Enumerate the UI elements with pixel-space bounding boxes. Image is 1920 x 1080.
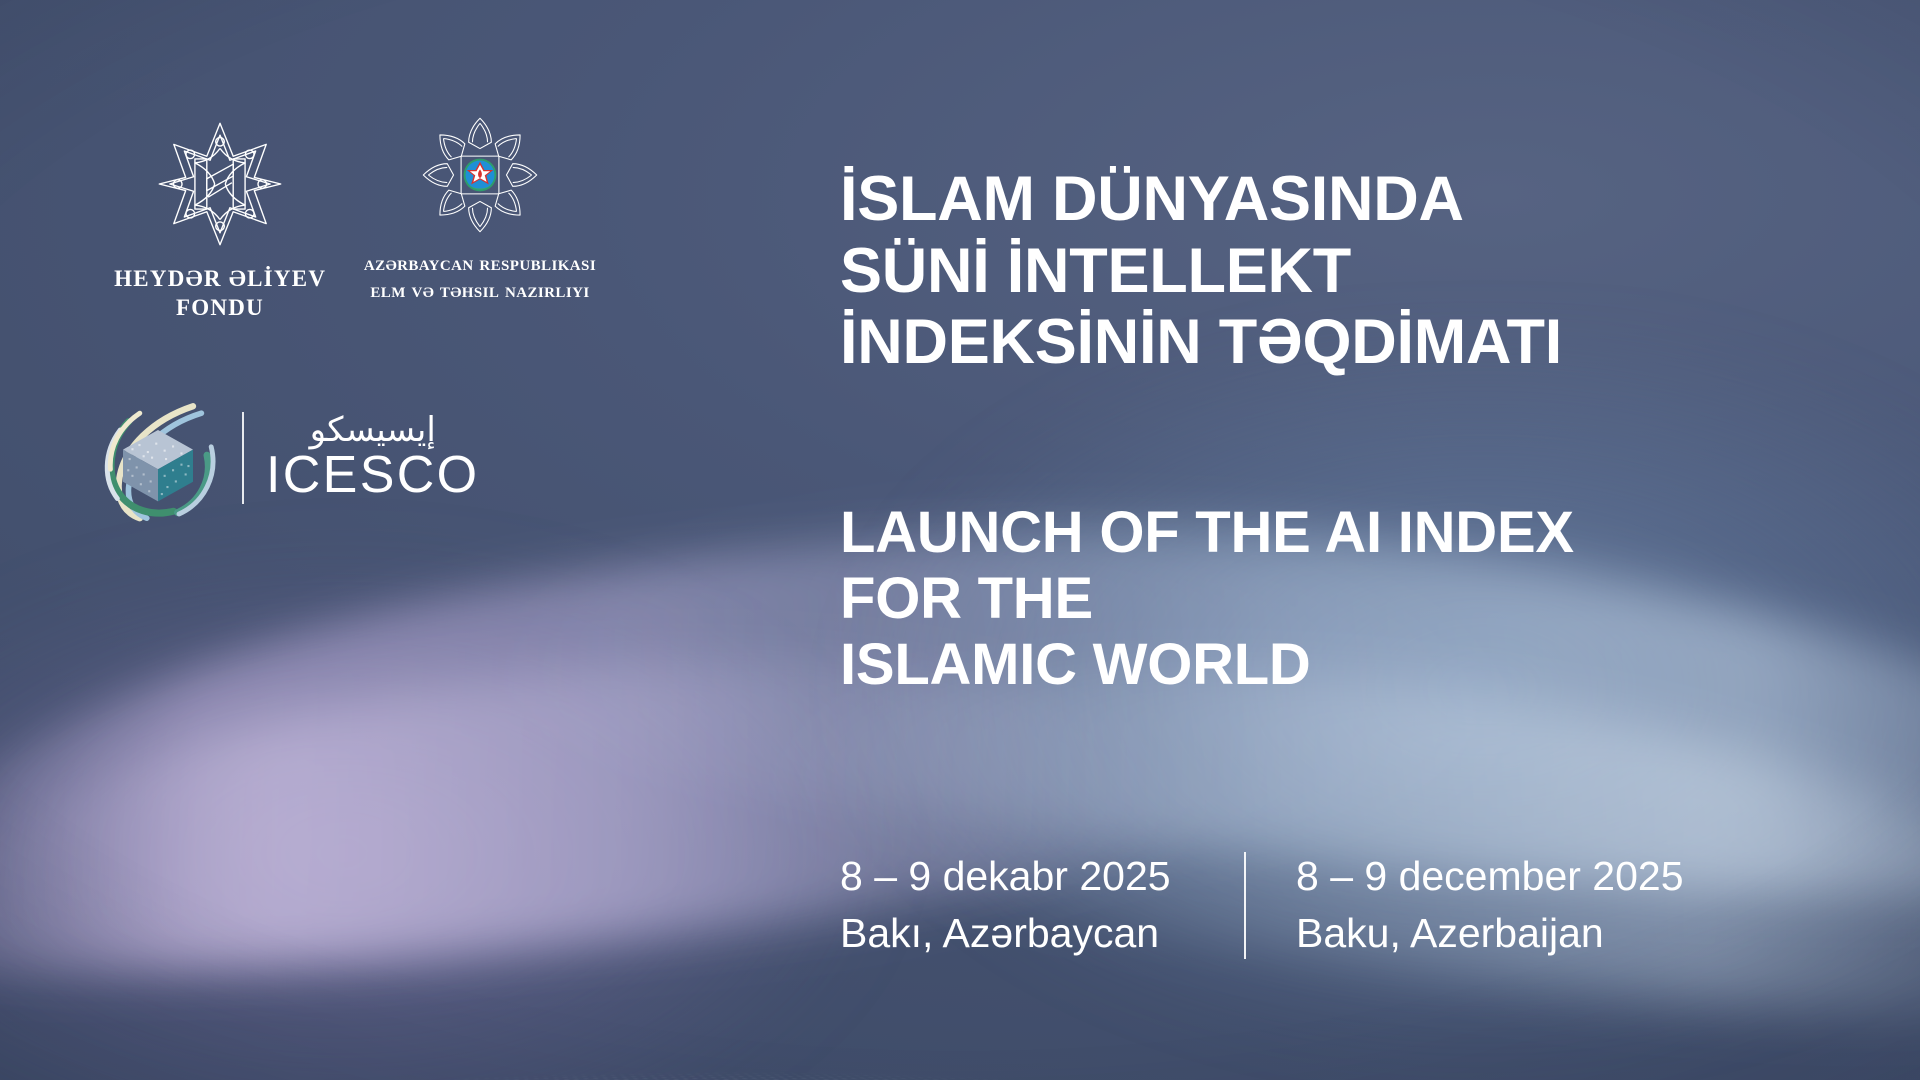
footer-english: 8 – 9 december 2025 Baku, Azerbaijan [1296, 848, 1684, 963]
footer-divider [1244, 852, 1246, 959]
icesco-logo-divider [242, 412, 244, 504]
footer-az-date: 8 – 9 dekabr 2025 [840, 848, 1244, 905]
caption-line: Elm və Təhsil Nazirliyi [330, 277, 630, 304]
logo-ministry-science-education: Azərbaycan Respublikası Elm və Təhsil Na… [330, 112, 630, 304]
headline-azerbaijani: İSLAM DÜNYASINDA SÜNİ İNTELLEKT İNDEKSİN… [840, 164, 1562, 379]
headline-english: LAUNCH OF THE AI INDEX FOR THE ISLAMIC W… [840, 500, 1574, 698]
icesco-wordmark: إيسيسكو ICESCO [266, 413, 479, 502]
footer-en-date: 8 – 9 december 2025 [1296, 848, 1684, 905]
icesco-arabic-wordmark: إيسيسكو [310, 413, 436, 447]
headline-az-line-1: İSLAM DÜNYASINDA [840, 164, 1562, 236]
logo-caption-ministry: Azərbaycan Respublikası Elm və Təhsil Na… [330, 250, 630, 304]
icesco-cube [123, 430, 193, 501]
footer-date-location: 8 – 9 dekabr 2025 Bakı, Azərbaycan 8 – 9… [840, 848, 1684, 963]
footer-en-location: Baku, Azerbaijan [1296, 905, 1684, 962]
azerbaijan-state-emblem [464, 159, 497, 192]
headline-en-line-3: ISLAMIC WORLD [840, 632, 1574, 698]
logo-heydar-aliyev-foundation: HEYDƏR ƏLİYEV FONDU [85, 118, 355, 323]
banner-content: HEYDƏR ƏLİYEV FONDU [0, 0, 1920, 1080]
headline-en-line-1: LAUNCH OF THE AI INDEX [840, 500, 1574, 566]
icesco-latin-wordmark: ICESCO [266, 449, 479, 502]
azerbaijan-ministry-emblem [417, 112, 543, 238]
event-banner: HEYDƏR ƏLİYEV FONDU [0, 0, 1920, 1080]
logo-icesco: إيسيسكو ICESCO [88, 388, 479, 528]
eight-pointed-star-emblem [154, 118, 286, 250]
logo-caption-heydar-aliyev-foundation: HEYDƏR ƏLİYEV FONDU [85, 264, 355, 323]
headline-en-line-2: FOR THE [840, 566, 1574, 632]
headline-az-line-3: İNDEKSİNİN TƏQDİMATI [840, 307, 1562, 379]
caption-line: FONDU [176, 295, 264, 320]
footer-az-location: Bakı, Azərbaycan [840, 905, 1244, 962]
footer-azerbaijani: 8 – 9 dekabr 2025 Bakı, Azərbaycan [840, 848, 1244, 963]
caption-line: HEYDƏR ƏLİYEV [114, 266, 326, 291]
headline-az-line-2: SÜNİ İNTELLEKT [840, 236, 1562, 308]
icesco-swirl-cube-logo [88, 388, 228, 528]
caption-line: Azərbaycan Respublikası [330, 250, 630, 277]
